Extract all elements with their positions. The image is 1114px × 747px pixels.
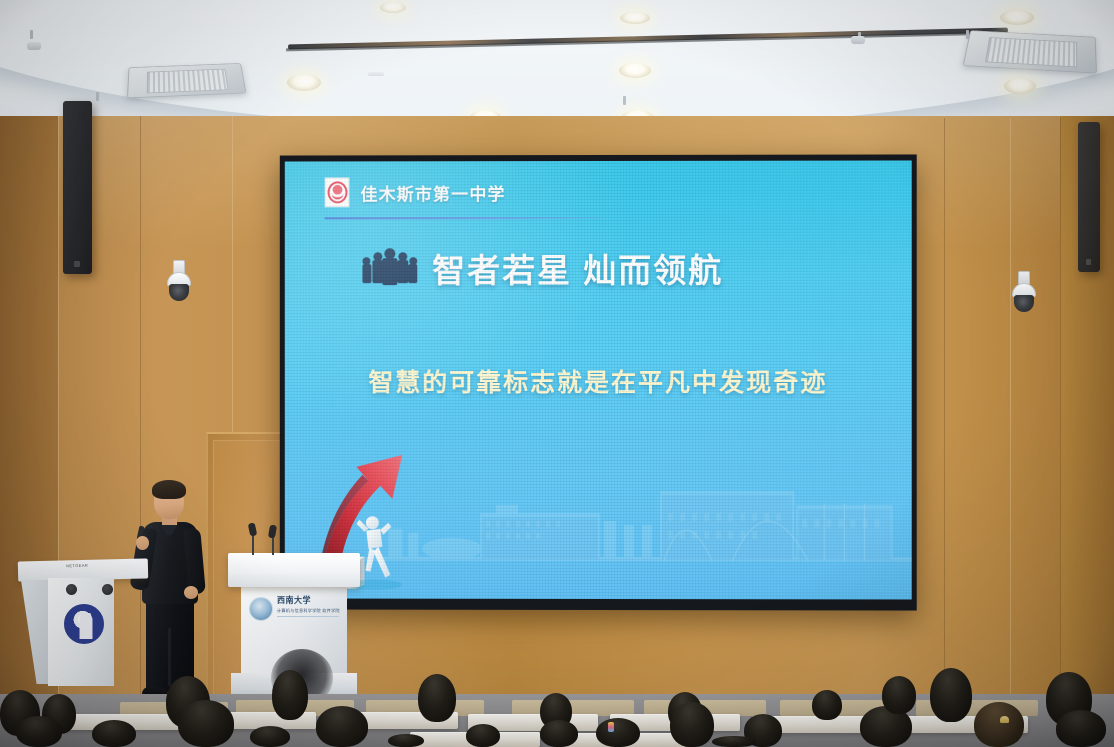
ceiling-cassette-ac-unit <box>963 30 1097 73</box>
lectern-left-knob <box>102 584 113 595</box>
led-video-wall-frame: 佳木斯市第一中学 智者若星 灿而领航 <box>280 154 917 610</box>
auditorium-photo: 佳木斯市第一中学 智者若星 灿而领航 <box>0 0 1114 747</box>
audience-head <box>670 702 714 747</box>
audience-head <box>466 724 500 747</box>
recessed-ceiling-downlight <box>620 12 650 24</box>
seal-graphic <box>327 181 347 203</box>
presenter-hand-left <box>136 536 149 550</box>
ptz-dome-camera-left <box>166 260 192 304</box>
presenter-hand-right <box>184 586 198 599</box>
audience-head <box>418 674 456 722</box>
southwest-university-emblem-icon <box>249 597 273 621</box>
audience-head <box>812 690 842 720</box>
slide-header: 佳木斯市第一中学 <box>325 177 506 207</box>
line-array-speaker-left <box>63 101 92 274</box>
smoke-detector <box>851 36 865 44</box>
audience-head <box>272 670 308 720</box>
sprinkler-head <box>966 30 969 39</box>
sprinkler-head <box>96 92 99 101</box>
audience-head <box>16 716 62 747</box>
recessed-ceiling-downlight <box>1000 10 1034 25</box>
camera-lens <box>169 284 189 301</box>
presenter-glasses <box>156 495 182 500</box>
people-group-icon <box>362 251 416 285</box>
recessed-ceiling-downlight <box>1004 78 1036 94</box>
jiamusi-no1-middle-school-seal-icon <box>325 177 350 207</box>
audience-head <box>388 734 424 747</box>
lectern-center-body: 西南大学 计算机与信息科学学院 软件学院 <box>241 587 347 673</box>
lectern-center-top <box>228 553 360 587</box>
school-name-label: 佳木斯市第一中学 <box>360 180 505 205</box>
recessed-ceiling-downlight <box>380 2 406 13</box>
ceiling-cassette-ac-unit <box>127 63 247 98</box>
audience-head <box>930 668 972 722</box>
wall-panel-seam <box>1060 118 1061 716</box>
plaque-rule <box>277 616 339 617</box>
audience-head <box>250 726 290 747</box>
audience-head <box>974 702 1024 747</box>
department-name-label: 计算机与信息科学学院 软件学院 <box>277 608 343 614</box>
ptz-dome-camera-right <box>1011 271 1037 315</box>
audience-head <box>596 718 640 747</box>
hair-accessory <box>608 722 614 732</box>
lectern-left-brand-label: NETGEAR <box>66 563 88 569</box>
audience-head <box>1056 710 1106 747</box>
audience-head <box>540 720 578 747</box>
sprinkler-head <box>30 30 33 39</box>
presenter-leg-gap <box>168 628 171 686</box>
smoke-detector <box>368 72 384 76</box>
hair-clip <box>1000 716 1009 723</box>
smoke-detector <box>27 42 41 50</box>
line-array-speaker-right <box>1078 122 1100 272</box>
wall-panel-seam <box>944 118 945 716</box>
slide-subtitle-text: 智慧的可靠标志就是在平凡中发现奇迹 <box>285 363 912 399</box>
speaker-at-lectern <box>132 478 210 706</box>
sprinkler-head <box>623 96 626 105</box>
lectern-left[interactable]: NETGEAR <box>18 560 136 700</box>
wall-panel-seam <box>1010 118 1011 716</box>
camera-lens <box>1014 295 1034 312</box>
lectern-left-side <box>21 580 51 684</box>
recessed-ceiling-downlight <box>287 74 321 91</box>
audience-head <box>882 676 916 714</box>
audience-head <box>712 736 756 747</box>
audience-head <box>92 720 136 747</box>
audience-head <box>178 700 234 747</box>
university-crest-blue-icon <box>64 604 104 644</box>
university-name-label: 西南大学 <box>277 595 343 607</box>
lectern-left-knob <box>66 584 77 595</box>
slide-title-row: 智者若星 灿而领航 <box>362 244 723 292</box>
recessed-ceiling-downlight <box>619 63 651 78</box>
lectern-center-plaque: 西南大学 计算机与信息科学学院 软件学院 <box>277 595 343 617</box>
header-divider <box>325 217 606 219</box>
presentation-slide[interactable]: 佳木斯市第一中学 智者若星 灿而领航 <box>285 160 912 599</box>
slide-title-text: 智者若星 灿而领航 <box>432 244 723 292</box>
audience-head <box>316 706 368 747</box>
